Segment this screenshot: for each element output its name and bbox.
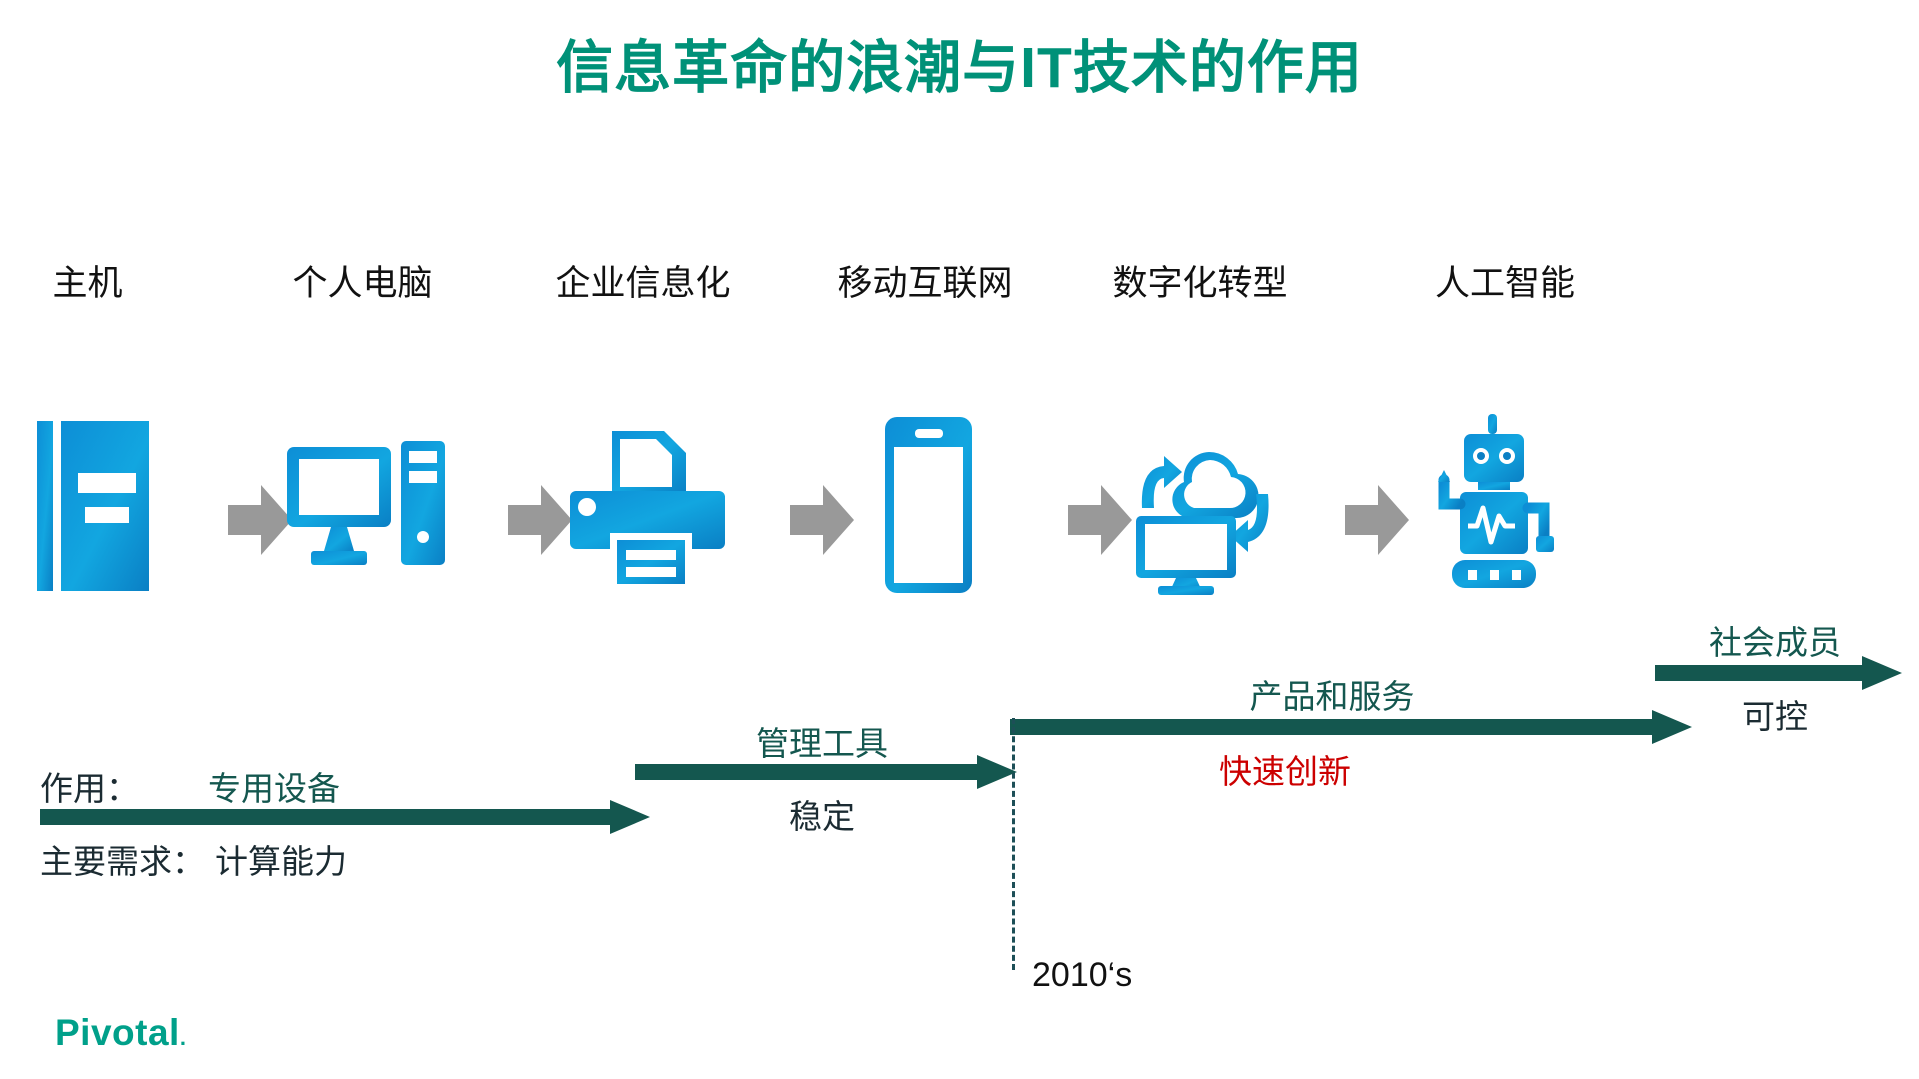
flow-arrow-enterprise xyxy=(635,755,1017,789)
stage-label-mobile-internet: 移动互联网 xyxy=(800,266,1050,301)
gray-arrow-5 xyxy=(1345,485,1409,555)
segment-enterprise-below-label: 稳定 xyxy=(789,800,855,833)
era-marker-label: 2010‘s xyxy=(1032,958,1132,992)
segment-ai-above-label: 社会成员 xyxy=(1709,626,1841,659)
gray-arrow-3 xyxy=(790,485,854,555)
flow-arrow-ai xyxy=(1655,656,1902,690)
pivotal-logo: Pivotal. xyxy=(55,1014,186,1051)
stage-label-personal-computer: 个人电脑 xyxy=(240,266,485,301)
mainframe-icon xyxy=(18,412,168,597)
printer-document-icon xyxy=(560,425,735,595)
segment-ai-below-label: 可控 xyxy=(1742,700,1808,733)
smartphone-icon xyxy=(878,415,978,595)
cloud-monitor-icon xyxy=(1118,420,1298,595)
page-title: 信息革命的浪潮与IT技术的作用 xyxy=(0,36,1919,102)
flow-arrow-mainframe xyxy=(40,800,650,834)
pivotal-logo-text: Pivotal xyxy=(55,1012,180,1053)
segment-mobile-below-label: 快速创新 xyxy=(1219,755,1351,788)
stage-label-artificial-intelligence: 人工智能 xyxy=(1380,266,1630,301)
stage-label-mainframe: 主机 xyxy=(0,266,175,301)
row-label-demand: 主要需求： xyxy=(40,845,205,878)
pivotal-logo-dot: . xyxy=(180,1025,187,1050)
desktop-computer-icon xyxy=(283,430,448,590)
slide-canvas: 信息革命的浪潮与IT技术的作用 主机 个人电脑 企业信息化 移动互联网 数字化转… xyxy=(0,0,1919,1079)
stage-label-enterprise-it: 企业信息化 xyxy=(518,266,768,301)
segment-mainframe-below-label: 计算能力 xyxy=(215,845,347,878)
segment-mobile-above-label: 产品和服务 xyxy=(1250,680,1415,713)
stage-label-digital-transformation: 数字化转型 xyxy=(1075,266,1325,301)
flow-arrow-mobile xyxy=(1010,710,1692,744)
era-divider-dashed-line xyxy=(1012,718,1015,970)
robot-icon xyxy=(1412,412,1587,597)
